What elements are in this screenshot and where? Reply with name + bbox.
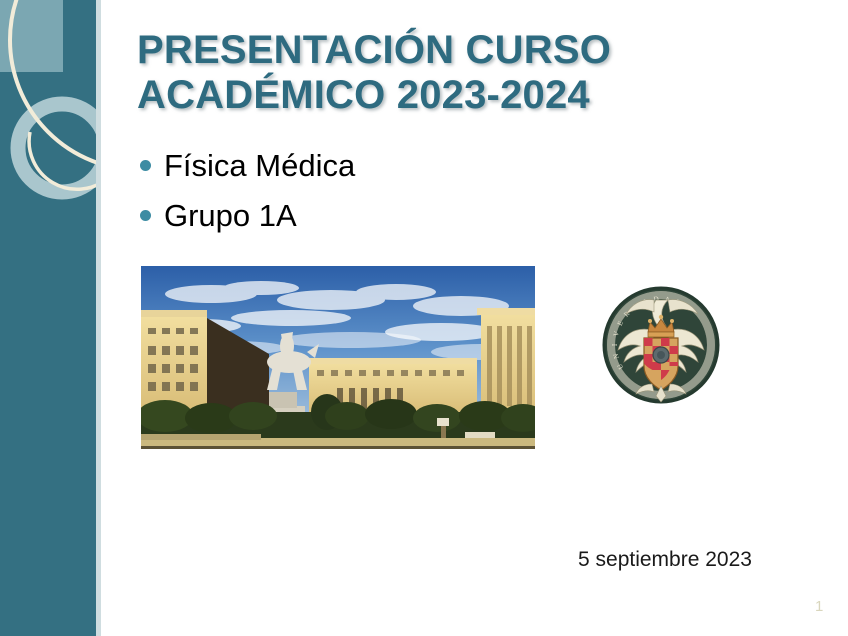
list-item: Grupo 1A — [140, 190, 660, 240]
title-line-1: PRESENTACIÓN CURSO — [137, 28, 737, 73]
list-item: Física Médica — [140, 140, 660, 190]
slide-date: 5 septiembre 2023 — [578, 548, 752, 572]
title-line-2: ACADÉMICO 2023-2024 — [137, 73, 737, 118]
ucm-seal-icon: U N I V E R S I D A D — [600, 284, 722, 406]
bullet-dot-icon — [140, 160, 151, 171]
presentation-slide: PRESENTACIÓN CURSO ACADÉMICO 2023-2024 F… — [0, 0, 848, 636]
slide-title: PRESENTACIÓN CURSO ACADÉMICO 2023-2024 — [137, 28, 737, 118]
bullet-dot-icon — [140, 210, 151, 221]
bullet-label: Grupo 1A — [164, 200, 297, 231]
bullet-list: Física Médica Grupo 1A — [140, 140, 660, 240]
slide-number: 1 — [815, 598, 823, 615]
bullet-label: Física Médica — [164, 150, 355, 181]
ucm-campus-photo — [141, 266, 535, 449]
sidebar-rings-graphic — [0, 0, 101, 636]
sidebar-edge-strip — [96, 0, 101, 636]
sidebar-decoration — [0, 0, 101, 636]
